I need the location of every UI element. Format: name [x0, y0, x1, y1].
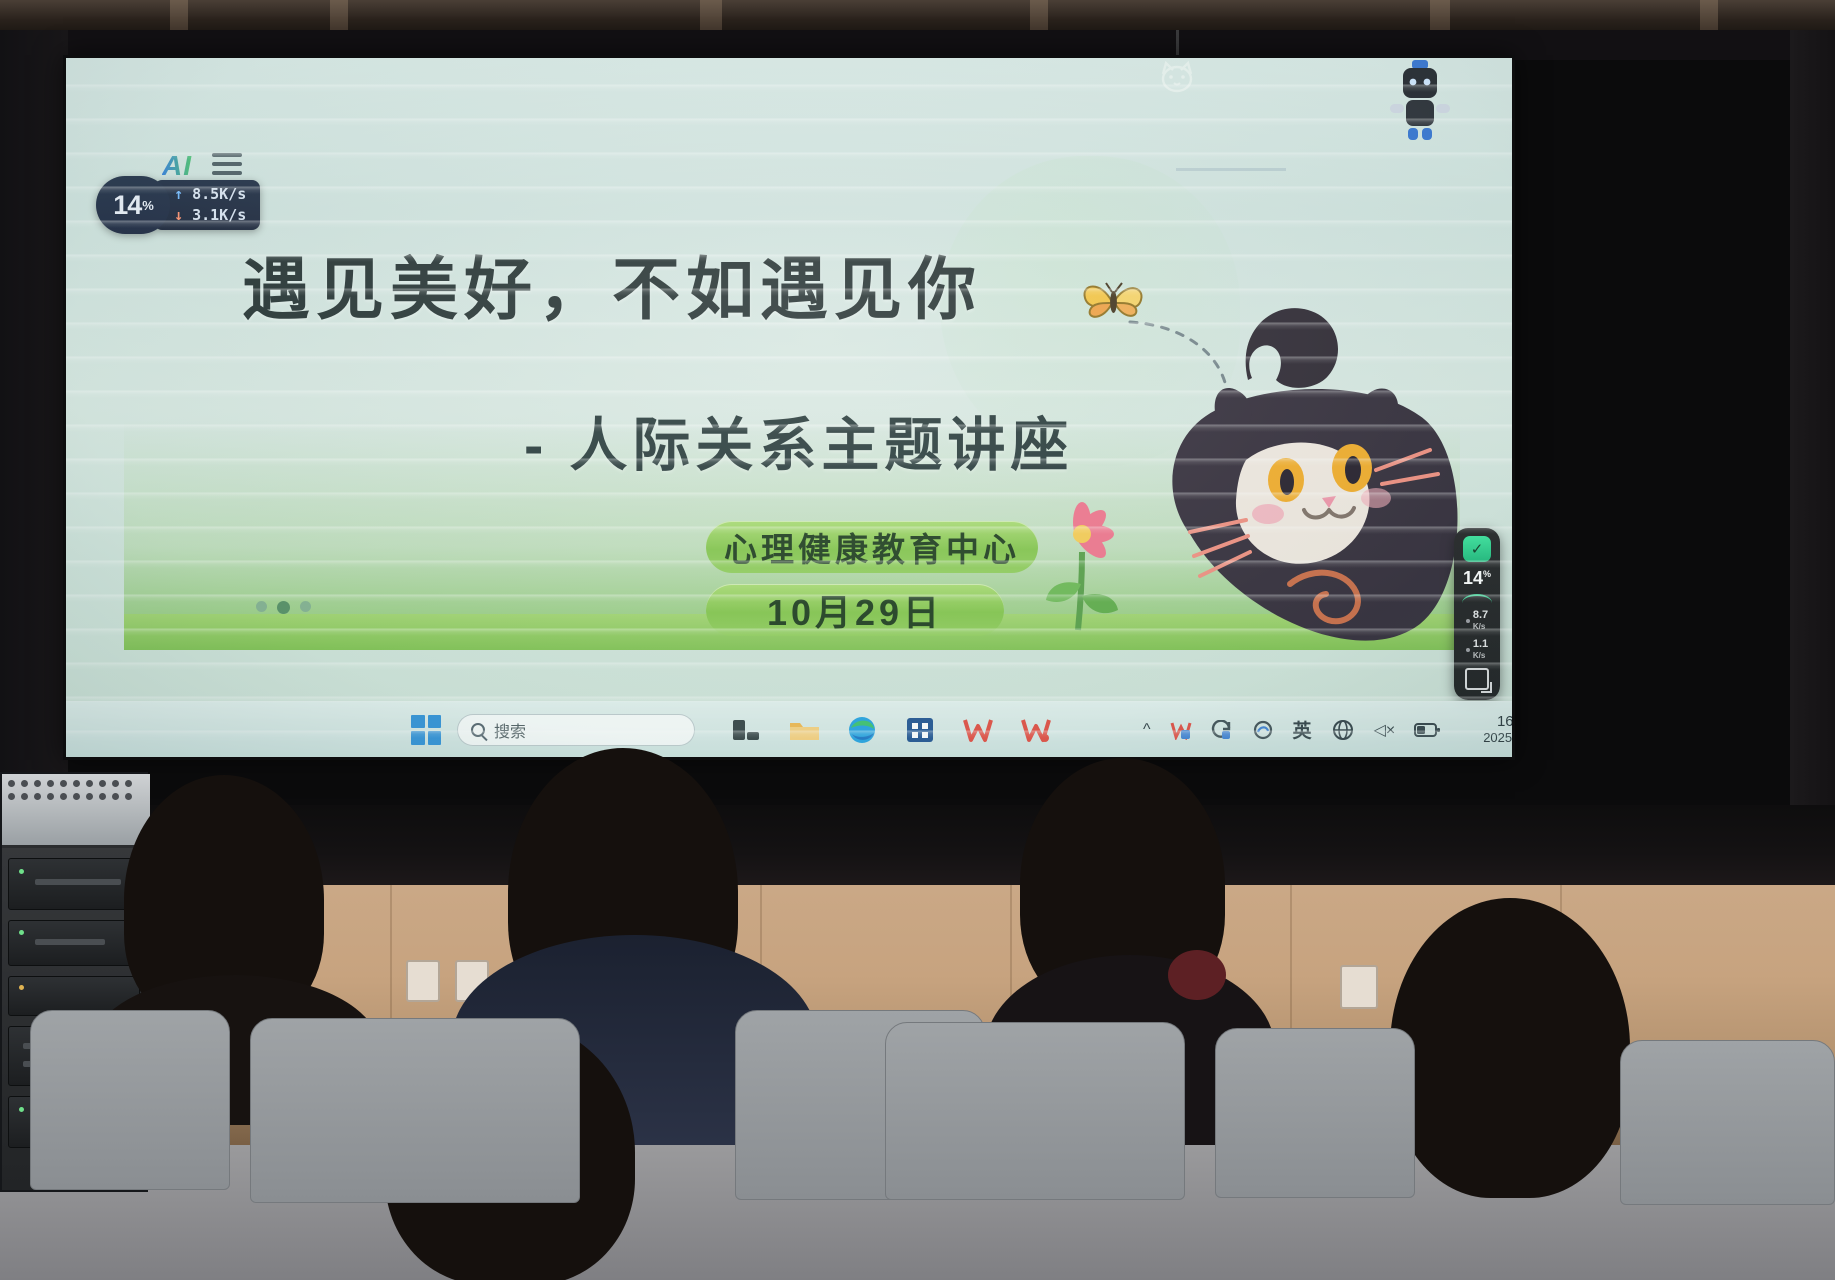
rack-unit	[8, 858, 140, 910]
microsoft-edge-icon[interactable]	[845, 714, 879, 746]
search-icon	[471, 723, 485, 737]
upload-rate: 8.5K/s	[192, 185, 246, 203]
hair-accessory	[1168, 950, 1226, 1000]
cat-face-icon	[1158, 60, 1196, 94]
download-arrow-icon: ↓	[174, 206, 183, 224]
ceiling-cable	[1176, 30, 1179, 58]
clock-time: 16:07	[1483, 714, 1512, 730]
powerpoint-slide: 遇见美好，不如遇见你 - 人际关系主题讲座 心理健康教育中心 10月29日	[124, 66, 1460, 706]
rack-unit	[8, 920, 140, 966]
windows-taskbar: 搜索	[66, 701, 1512, 757]
search-placeholder: 搜索	[494, 718, 526, 742]
divider-line	[1176, 168, 1286, 171]
upload-arrow-icon: ↑	[174, 185, 183, 203]
wps-tray-icon[interactable]	[1170, 720, 1192, 740]
ime-language-icon[interactable]: 英	[1293, 716, 1312, 743]
system-tray: ^ 英	[1143, 714, 1512, 746]
cloud-icon[interactable]	[1252, 720, 1274, 740]
netspeed-percent: 14%	[96, 176, 170, 234]
dock-download-row: 1.1 K/s	[1466, 639, 1488, 661]
windows-start-button[interactable]	[411, 715, 441, 745]
dock-arc-indicator	[1462, 594, 1492, 603]
dock-download-value: 1.1	[1473, 639, 1488, 650]
volume-muted-icon[interactable]: ◁×	[1374, 720, 1396, 740]
battery-icon[interactable]	[1414, 722, 1440, 738]
clock-date: 2025/10/29	[1483, 730, 1512, 746]
chair	[1620, 1040, 1835, 1205]
chair	[250, 1018, 580, 1203]
show-hidden-icons-chevron[interactable]: ^	[1143, 721, 1151, 739]
wall-right	[1790, 30, 1835, 820]
wall-outlet	[1340, 965, 1378, 1009]
taskbar-clock[interactable]: 16:07 2025/10/29	[1483, 714, 1512, 746]
audience-head	[1390, 898, 1630, 1198]
dock-download-unit: K/s	[1473, 650, 1488, 661]
sync-icon[interactable]	[1211, 720, 1233, 740]
org-badge: 心理健康教育中心	[706, 521, 1038, 573]
wps-writer-icon[interactable]	[1019, 714, 1053, 746]
chair	[1215, 1028, 1415, 1198]
slide-page-dots	[256, 601, 311, 614]
dock-battery-percent: 14%	[1463, 569, 1491, 587]
projected-desktop: 遇见美好，不如遇见你 - 人际关系主题讲座 心理健康教育中心 10月29日	[66, 58, 1512, 757]
microsoft-store-icon[interactable]	[903, 714, 937, 746]
audio-mixer	[2, 774, 150, 848]
wall-outlet	[406, 960, 440, 1002]
system-float-dock[interactable]: ✓ 14% 8.7 K/s 1.1 K/s	[1454, 528, 1500, 700]
chair	[885, 1022, 1185, 1200]
file-explorer-icon[interactable]	[787, 714, 821, 746]
netspeed-widget[interactable]: 14% ↑ 8.5K/s ↓ 3.1K/s	[96, 176, 260, 234]
robot-mascot-icon	[1384, 58, 1456, 146]
search-input[interactable]: 搜索	[457, 714, 695, 746]
hamburger-icon[interactable]	[212, 153, 242, 180]
shield-icon[interactable]: ✓	[1463, 536, 1491, 562]
task-view-icon[interactable]	[729, 714, 763, 746]
date-badge: 10月29日	[706, 584, 1004, 636]
taskbar-apps	[729, 714, 1053, 746]
ai-logo[interactable]: AI	[162, 150, 192, 182]
screenshot-root: 遇见美好，不如遇见你 - 人际关系主题讲座 心理健康教育中心 10月29日	[0, 0, 1835, 1280]
dock-upload-row: 8.7 K/s	[1466, 610, 1488, 632]
wall-left	[0, 30, 68, 820]
crop-icon[interactable]	[1465, 668, 1489, 690]
wps-office-icon[interactable]	[961, 714, 995, 746]
projection-screen-frame: 遇见美好，不如遇见你 - 人际关系主题讲座 心理健康教育中心 10月29日	[63, 55, 1515, 760]
download-rate: 3.1K/s	[192, 206, 246, 224]
dock-upload-unit: K/s	[1473, 621, 1488, 632]
dock-upload-value: 8.7	[1473, 610, 1488, 621]
slide-subtitle: - 人际关系主题讲座	[524, 398, 1073, 482]
black-cat-illustration	[1040, 284, 1460, 644]
slide-title: 遇见美好，不如遇见你	[242, 234, 982, 333]
network-globe-icon[interactable]	[1331, 719, 1355, 741]
chair	[30, 1010, 230, 1190]
